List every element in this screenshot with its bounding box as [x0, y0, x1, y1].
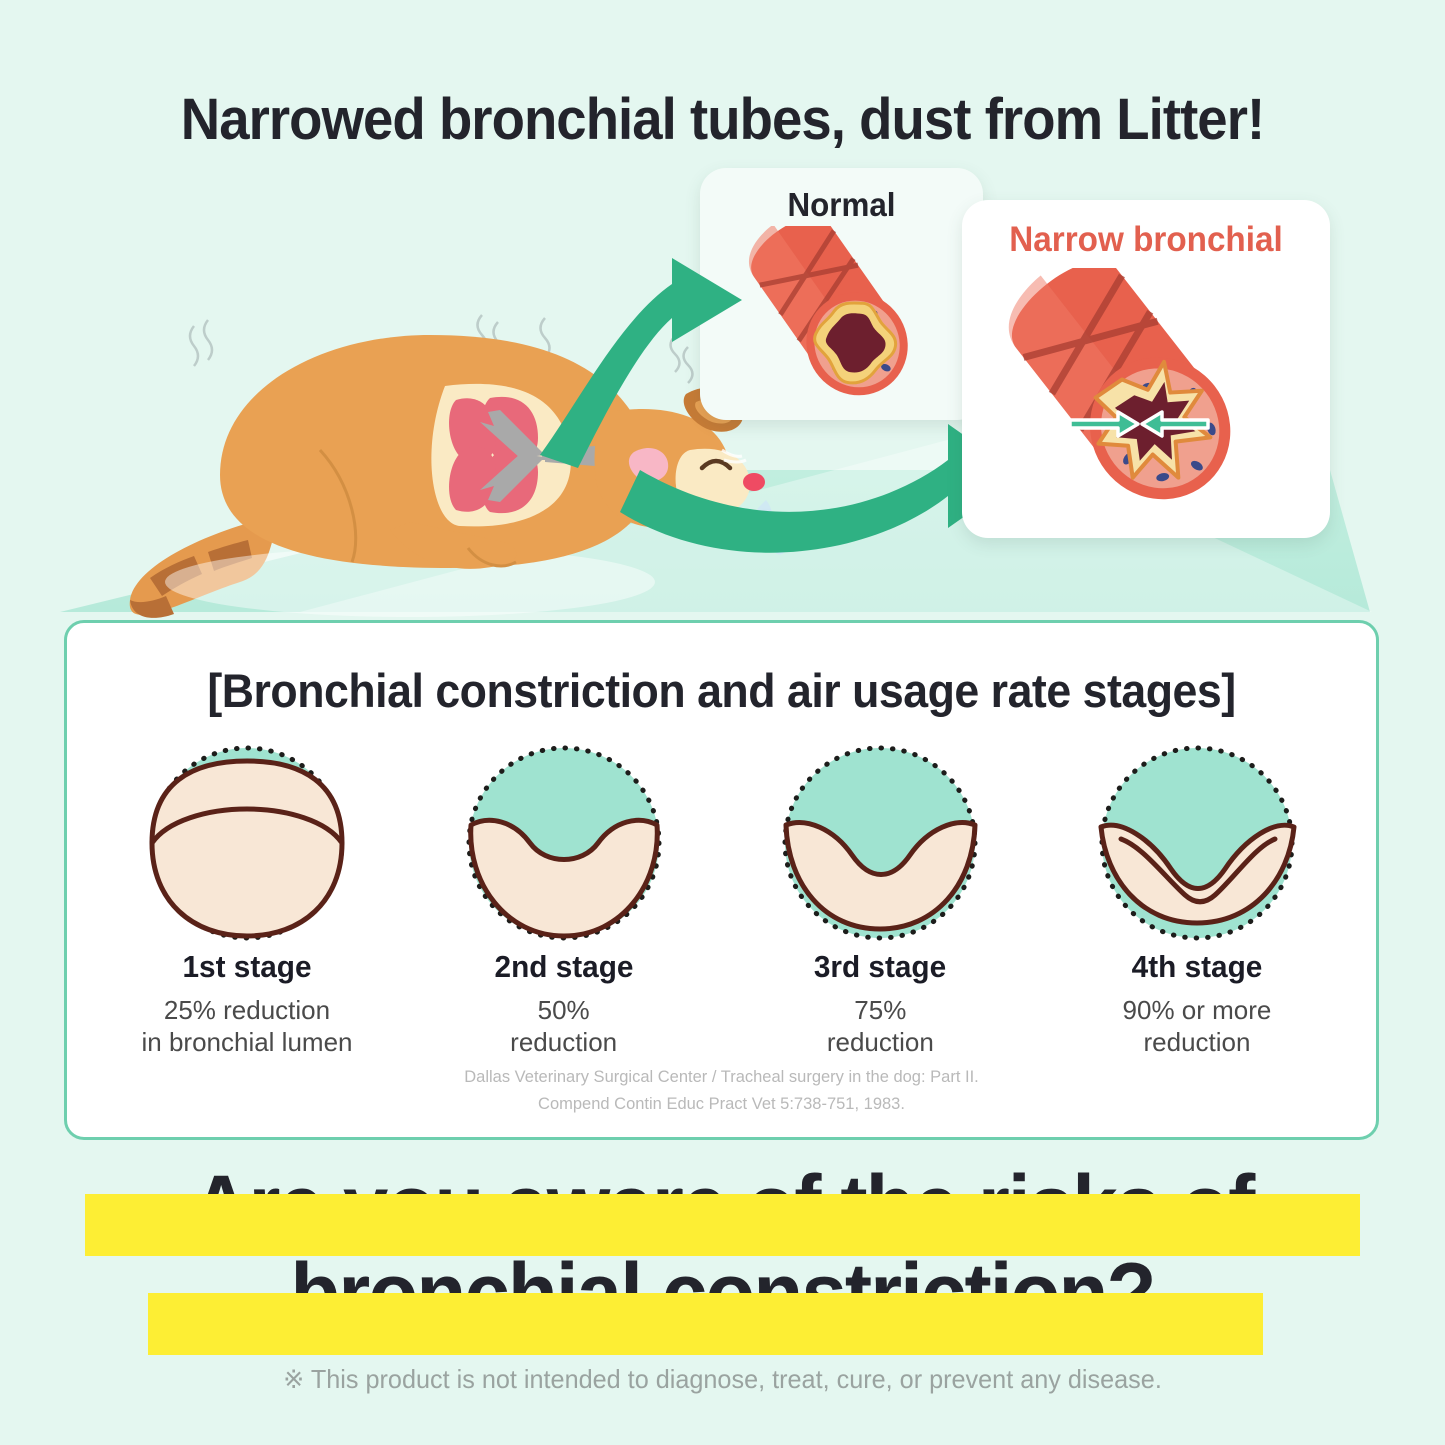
stage-2-lumen-diagram: [414, 743, 714, 943]
stage-4-desc: 90% or more reduction: [1047, 995, 1347, 1058]
narrow-bronchial-diagram: [962, 268, 1330, 536]
stage-item-2: 2nd stage 50% reduction: [414, 743, 714, 1058]
stage-3-desc: 75% reduction: [730, 995, 1030, 1058]
stage-1-lumen-diagram: [97, 743, 397, 943]
infographic-canvas: Narrowed bronchial tubes, dust from Litt…: [0, 0, 1445, 1445]
stages-heading: [Bronchial constriction and air usage ra…: [100, 663, 1344, 718]
stage-2-desc: 50% reduction: [414, 995, 714, 1058]
stage-1-name: 1st stage: [103, 949, 391, 985]
stage-item-4: 4th stage 90% or more reduction: [1047, 743, 1347, 1058]
stage-1-desc: 25% reduction in bronchial lumen: [97, 995, 397, 1058]
stage-3-name: 3rd stage: [736, 949, 1024, 985]
stages-row: 1st stage 25% reduction in bronchial lum…: [97, 743, 1347, 1058]
highlight-band-line2: [148, 1293, 1263, 1355]
narrow-bronchial-panel: Narrow bronchial: [962, 200, 1330, 538]
stage-2-name: 2nd stage: [420, 949, 708, 985]
narrow-panel-label: Narrow bronchial: [971, 220, 1321, 260]
source-citation: Dallas Veterinary Surgical Center / Trac…: [67, 1064, 1376, 1117]
stages-panel: [Bronchial constriction and air usage ra…: [64, 620, 1379, 1140]
stage-item-3: 3rd stage 75% reduction: [730, 743, 1030, 1058]
highlight-band-line1: [85, 1194, 1360, 1256]
arrow-to-normal-icon: [540, 258, 742, 468]
legal-disclaimer: ※ This product is not intended to diagno…: [22, 1364, 1424, 1395]
stage-3-lumen-diagram: [730, 743, 1030, 943]
stage-4-name: 4th stage: [1053, 949, 1341, 985]
stage-4-lumen-diagram: [1047, 743, 1347, 943]
stage-item-1: 1st stage 25% reduction in bronchial lum…: [97, 743, 397, 1058]
